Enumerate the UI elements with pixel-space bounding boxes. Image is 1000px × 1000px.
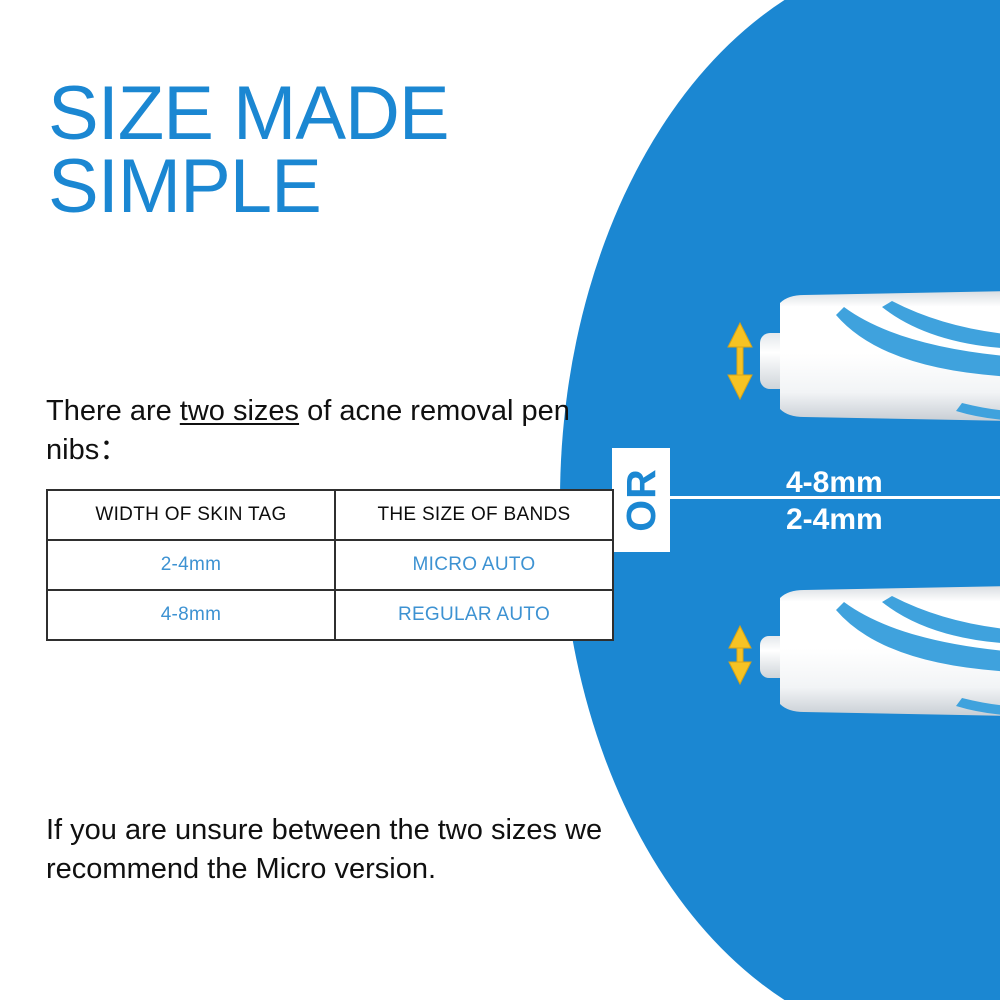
size-arrow-icon [729,626,751,684]
table-header-width-of-skin-tag: WIDTH OF SKIN TAG [47,490,335,540]
table-cell-width-micro: 2-4mm [47,540,335,590]
table-cell-band-micro: MICRO AUTO [335,540,613,590]
page-title-line-2: SIMPLE [48,151,608,224]
upper-size-label: 4-8mm [786,466,883,500]
intro-text-emphasis: two sizes [180,395,299,427]
micro-auto-pen-illustration [716,580,1000,720]
recommendation-paragraph: If you are unsure between the two sizes … [46,811,626,888]
table-row: 4-8mm REGULAR AUTO [47,590,613,640]
page-title-line-1: SIZE MADE [48,78,608,151]
page-title: SIZE MADE SIMPLE [48,78,608,224]
size-arrow-icon [728,323,752,399]
regular-auto-pen-illustration [716,285,1000,425]
size-chart-table: WIDTH OF SKIN TAG THE SIZE OF BANDS 2-4m… [46,489,614,641]
infographic-canvas: OR 4-8mm 2-4mm SIZE MADE SIMPLE There ar… [0,0,1000,1000]
table-row: 2-4mm MICRO AUTO [47,540,613,590]
table-header-row: WIDTH OF SKIN TAG THE SIZE OF BANDS [47,490,613,540]
table-cell-width-regular: 4-8mm [47,590,335,640]
table-cell-band-regular: REGULAR AUTO [335,590,613,640]
lower-size-label: 2-4mm [786,503,883,537]
intro-text-before: There are [46,395,180,427]
intro-paragraph: There are two sizes of acne removal pen … [46,392,616,469]
table-header-size-of-bands: THE SIZE OF BANDS [335,490,613,540]
